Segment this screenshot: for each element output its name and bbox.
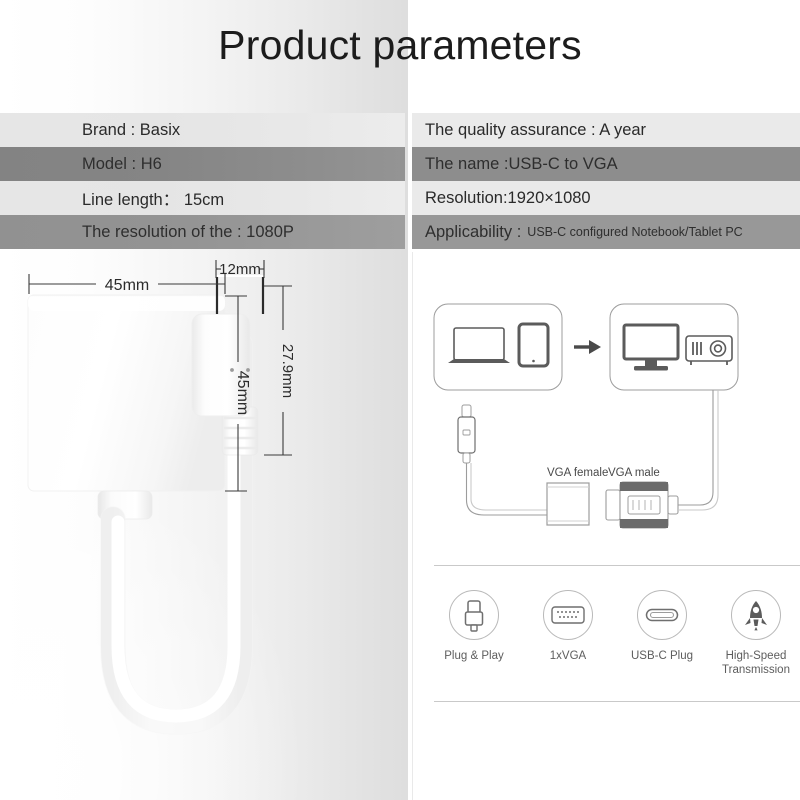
spec-cell-model: Model : H6 — [0, 147, 405, 181]
spec-text: The name :USB-C to VGA — [425, 155, 618, 174]
projector-icon — [686, 336, 732, 365]
cable-left-inner — [471, 463, 547, 510]
vga-male-label: VGA male — [608, 467, 660, 479]
dimension-diagram: 45mm 45mm 12mm — [0, 252, 408, 800]
feature-icon-circle — [449, 590, 499, 640]
spec-cell-output-resolution: The resolution of the : 1080P — [0, 215, 405, 249]
spec-cell-applicability: Applicability : USB-C configured Noteboo… — [412, 215, 800, 249]
connection-diagram: VGA female VGA male — [430, 300, 790, 550]
feature-high-speed-transmission: High-SpeedTransmission — [712, 590, 800, 677]
adapter-body-top-highlight — [28, 295, 225, 311]
feature-label: USB-C Plug — [631, 649, 693, 663]
right-panel: VGA female VGA male — [412, 252, 800, 800]
spec-text: The quality assurance : A year — [425, 121, 646, 140]
feature-plug-and-play: Plug & Play — [430, 590, 518, 663]
spec-text: Line length： 15cm — [82, 186, 224, 210]
spec-cell-brand: Brand : Basix — [0, 113, 405, 147]
cable-right-inner — [678, 390, 718, 510]
cable-right — [678, 390, 713, 505]
laptop-icon — [448, 328, 510, 363]
feature-icon-circle — [543, 590, 593, 640]
page-title: Product parameters — [0, 22, 800, 69]
cable-left — [467, 463, 548, 515]
product-parameters-page: Product parameters Brand : Basix The qua… — [0, 0, 800, 800]
table-row: Line length： 15cm Resolution:1920×1080 — [0, 181, 800, 215]
dimension-diagram-svg: 45mm 45mm 12mm — [0, 252, 408, 800]
spec-text: Brand : Basix — [82, 121, 180, 140]
feature-label: High-SpeedTransmission — [722, 649, 790, 677]
feature-icon-circle — [637, 590, 687, 640]
divider-bottom — [434, 701, 800, 702]
vga-male-icon — [606, 482, 678, 528]
table-row: The resolution of the : 1080P Applicabil… — [0, 215, 800, 249]
table-row: Brand : Basix The quality assurance : A … — [0, 113, 800, 147]
spec-cell-resolution: Resolution:1920×1080 — [412, 181, 800, 215]
feature-list: Plug & Play — [430, 590, 800, 677]
dimension-width-label: 45mm — [105, 277, 149, 294]
usb-c-connector-icon — [458, 405, 475, 463]
spec-text: Resolution:1920×1080 — [425, 189, 591, 208]
spec-text: USB-C configured Notebook/Tablet PC — [527, 225, 742, 239]
vga-female-icon — [547, 483, 589, 525]
spec-cell-line-length: Line length： 15cm — [0, 181, 405, 215]
divider-top — [434, 565, 800, 566]
tablet-icon — [519, 324, 548, 366]
feature-icon-circle — [731, 590, 781, 640]
vga-female-label: VGA female — [547, 467, 608, 479]
dimension-height-label: 45mm — [234, 371, 251, 415]
usb-c-port-icon — [645, 607, 679, 623]
vga-port-icon — [551, 604, 585, 626]
feature-1x-vga: 1xVGA — [524, 590, 612, 663]
usb-c-plug-dot — [230, 368, 234, 372]
spec-text: Model : H6 — [82, 155, 162, 174]
spec-label: Applicability : — [425, 223, 521, 242]
feature-usb-c-plug: USB-C Plug — [618, 590, 706, 663]
plug-and-play-icon — [461, 598, 487, 632]
spec-text: The resolution of the : 1080P — [82, 223, 294, 242]
spec-cell-quality-assurance: The quality assurance : A year — [412, 113, 800, 147]
table-row: Model : H6 The name :USB-C to VGA — [0, 147, 800, 181]
dimension-connector-height-label: 27.9mm — [279, 344, 296, 398]
feature-label: Plug & Play — [444, 649, 503, 663]
spec-table: Brand : Basix The quality assurance : A … — [0, 113, 800, 247]
rocket-icon — [743, 599, 769, 631]
arrow-right-icon — [574, 340, 601, 354]
spec-cell-name: The name :USB-C to VGA — [412, 147, 800, 181]
feature-label: 1xVGA — [550, 649, 586, 663]
dimension-connector-width-label: 12mm — [219, 261, 261, 278]
